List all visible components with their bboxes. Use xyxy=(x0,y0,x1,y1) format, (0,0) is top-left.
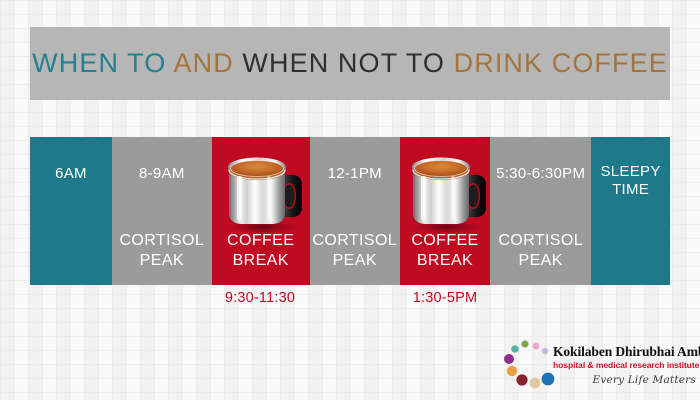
panel-time-sleepy-time: SLEEPY TIME xyxy=(591,163,670,199)
panel-time-cortisol-evening: 5:30-6:30PM xyxy=(490,165,591,183)
timeline-panel-cortisol-midday[interactable]: 12-1PM CORTISOL PEAK xyxy=(310,137,400,285)
title-part-and: AND xyxy=(173,48,242,78)
panel-time-cortisol-morning: 8-9AM xyxy=(112,165,212,183)
panel-label-line1: CORTISOL xyxy=(498,232,583,249)
logo-text-block: Kokilaben Dhirubhai Ambani hospital & me… xyxy=(553,344,699,371)
caption-coffee-window-2: 1:30-5PM xyxy=(400,290,490,306)
panel-label-cortisol-evening: CORTISOL PEAK xyxy=(490,231,591,271)
caption-coffee-window-1: 9:30-11:30 xyxy=(210,290,310,306)
panel-label-line2: PEAK xyxy=(490,251,591,271)
timeline-panel-sleepy-time[interactable]: SLEEPY TIME xyxy=(591,137,670,285)
panel-time-wake: 6AM xyxy=(30,165,112,183)
logo-dots-icon xyxy=(503,340,555,390)
panel-label-line1: COFFEE xyxy=(411,232,478,249)
panel-time-cortisol-midday: 12-1PM xyxy=(310,165,400,183)
panel-label-line2: PEAK xyxy=(310,251,400,271)
title-part-when-to: WHEN TO xyxy=(32,48,173,78)
panel-label-coffee-break-morning: COFFEE BREAK xyxy=(212,231,310,271)
timeline-panel-cortisol-evening[interactable]: 5:30-6:30PM CORTISOL PEAK xyxy=(490,137,591,285)
logo-subtitle: hospital & medical research institute xyxy=(553,359,699,371)
panel-label-line2: BREAK xyxy=(400,251,490,271)
panel-label-coffee-break-afternoon: COFFEE BREAK xyxy=(400,231,490,271)
hospital-logo[interactable]: Kokilaben Dhirubhai Ambani hospital & me… xyxy=(503,340,698,398)
sleepy-time-line2: TIME xyxy=(612,181,649,198)
title-part-drink-coffee: DRINK COFFEE xyxy=(454,48,668,78)
logo-tagline: Every Life Matters xyxy=(592,374,696,386)
coffee-mug-icon xyxy=(215,149,307,237)
timeline-panel-coffee-break-morning[interactable]: COFFEE BREAK xyxy=(212,137,310,285)
sleepy-time-line1: SLEEPY xyxy=(600,163,660,180)
coffee-mug-icon xyxy=(399,149,491,237)
panel-label-cortisol-morning: CORTISOL PEAK xyxy=(112,231,212,271)
panel-label-line1: CORTISOL xyxy=(312,232,397,249)
panel-label-line1: COFFEE xyxy=(227,232,294,249)
timeline-panel-wake[interactable]: 6AM xyxy=(30,137,112,285)
panel-label-line2: PEAK xyxy=(112,251,212,271)
title-part-when-not-to: WHEN NOT TO xyxy=(242,48,453,78)
panel-label-cortisol-midday: CORTISOL PEAK xyxy=(310,231,400,271)
panel-label-line2: BREAK xyxy=(212,251,310,271)
panel-label-line1: CORTISOL xyxy=(119,232,204,249)
timeline-panel-cortisol-morning[interactable]: 8-9AM CORTISOL PEAK xyxy=(112,137,212,285)
logo-name: Kokilaben Dhirubhai Ambani xyxy=(553,344,699,359)
page-title: WHEN TO AND WHEN NOT TO DRINK COFFEE xyxy=(32,48,668,79)
header-band: WHEN TO AND WHEN NOT TO DRINK COFFEE xyxy=(30,27,670,100)
coffee-timeline: 6AM 8-9AM CORTISOL PEAK xyxy=(30,137,670,285)
timeline-panel-coffee-break-afternoon[interactable]: COFFEE BREAK xyxy=(400,137,490,285)
